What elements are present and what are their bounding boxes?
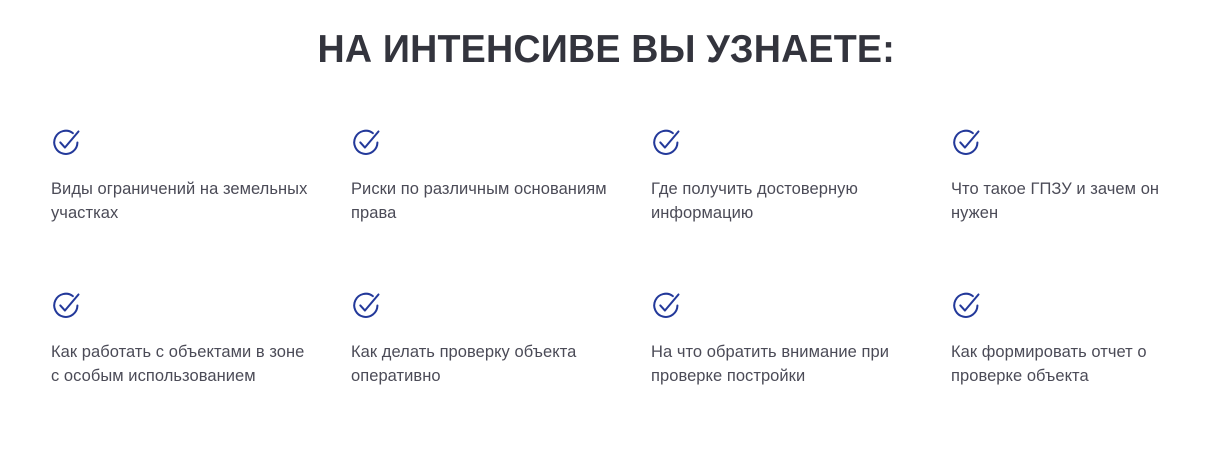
check-circle-icon xyxy=(652,291,681,320)
feature-label: Виды ограничений на земельных участках xyxy=(51,177,313,225)
feature-item: Риски по различным основаниям права xyxy=(351,128,651,291)
page-root: НА ИНТЕНСИВЕ ВЫ УЗНАЕТЕ: Виды ограничени… xyxy=(0,0,1213,449)
check-circle-icon xyxy=(952,128,981,157)
feature-label: Как делать проверку объекта оперативно xyxy=(351,340,619,388)
feature-item: Как формировать отчет о проверке объекта xyxy=(951,291,1203,388)
feature-label: Риски по различным основаниям права xyxy=(351,177,619,225)
check-circle-icon xyxy=(52,128,81,157)
feature-item: Как делать проверку объекта оперативно xyxy=(351,291,651,388)
check-circle-icon xyxy=(952,291,981,320)
check-circle-icon xyxy=(652,128,681,157)
feature-item: На что обратить внимание при проверке по… xyxy=(651,291,951,388)
page-title: НА ИНТЕНСИВЕ ВЫ УЗНАЕТЕ: xyxy=(318,27,895,73)
feature-label: Где получить достоверную информацию xyxy=(651,177,903,225)
feature-label: На что обратить внимание при проверке по… xyxy=(651,340,903,388)
features-grid: Виды ограничений на земельных участках Р… xyxy=(51,128,1171,388)
check-circle-icon xyxy=(52,291,81,320)
feature-item: Виды ограничений на земельных участках xyxy=(51,128,351,291)
feature-item: Как работать с объектами в зоне с особым… xyxy=(51,291,351,388)
feature-item: Что такое ГПЗУ и зачем он нужен xyxy=(951,128,1203,291)
feature-label: Что такое ГПЗУ и зачем он нужен xyxy=(951,177,1191,225)
feature-item: Где получить достоверную информацию xyxy=(651,128,951,291)
check-circle-icon xyxy=(352,128,381,157)
feature-label: Как работать с объектами в зоне с особым… xyxy=(51,340,313,388)
page-title-container: НА ИНТЕНСИВЕ ВЫ УЗНАЕТЕ: xyxy=(0,27,1213,73)
check-circle-icon xyxy=(352,291,381,320)
feature-label: Как формировать отчет о проверке объекта xyxy=(951,340,1191,388)
